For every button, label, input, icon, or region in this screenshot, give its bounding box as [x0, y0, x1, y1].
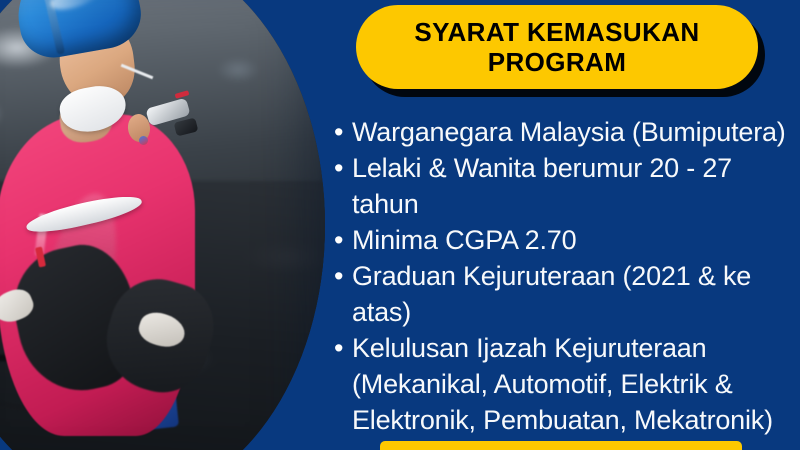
list-item: • Warganegara Malaysia (Bumiputera): [330, 114, 800, 150]
worker-photo: [0, 0, 325, 450]
list-item-label: Kelulusan Ijazah Kejuruteraan (Mekanikal…: [352, 330, 800, 438]
list-item-label: Minima CGPA 2.70: [352, 222, 800, 258]
title-pill: SYARAT KEMASUKAN PROGRAM: [356, 5, 758, 89]
bullet-icon: •: [330, 114, 352, 150]
page-title: SYARAT KEMASUKAN PROGRAM: [400, 17, 713, 77]
list-item-label: Lelaki & Wanita berumur 20 - 27 tahun: [352, 150, 800, 222]
worker-photo-image: [0, 0, 325, 450]
list-item: • Kelulusan Ijazah Kejuruteraan (Mekanik…: [330, 330, 800, 438]
list-item: • Minima CGPA 2.70: [330, 222, 800, 258]
list-item-label: Graduan Kejuruteraan (2021 & ke atas): [352, 258, 800, 330]
list-item: • Graduan Kejuruteraan (2021 & ke atas): [330, 258, 800, 330]
bottom-yellow-bar[interactable]: [380, 441, 742, 450]
requirements-list: • Warganegara Malaysia (Bumiputera) • Le…: [330, 114, 800, 438]
bullet-icon: •: [330, 150, 352, 186]
bullet-icon: •: [330, 258, 352, 294]
slide-canvas: SYARAT KEMASUKAN PROGRAM • Warganegara M…: [0, 0, 800, 450]
list-item-label: Warganegara Malaysia (Bumiputera): [352, 114, 800, 150]
bullet-icon: •: [330, 222, 352, 258]
bullet-icon: •: [330, 330, 352, 366]
list-item: • Lelaki & Wanita berumur 20 - 27 tahun: [330, 150, 800, 222]
